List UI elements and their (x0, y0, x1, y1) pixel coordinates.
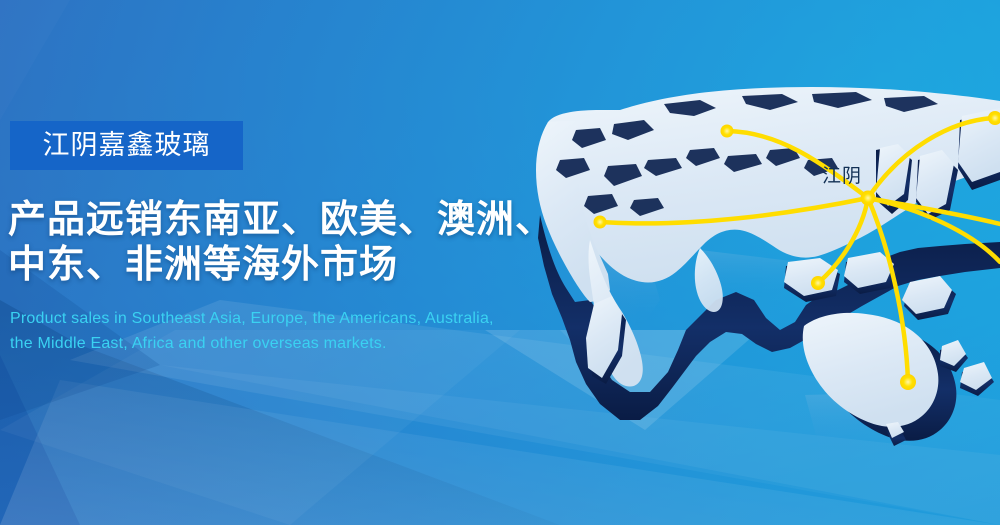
hub-label-jiangyin: 江阴 (822, 167, 862, 186)
banner-headline: 产品远销东南亚、欧美、澳洲、 中东、非洲等海外市场 (8, 198, 568, 288)
company-name-label: 江阴嘉鑫玻璃 (43, 132, 211, 159)
promotional-banner: 江阴 江阴嘉鑫玻璃 产品远销东南亚、欧美、澳洲、 中东、非洲等海外市场 Prod… (0, 0, 1000, 525)
banner-copy-block: 江阴嘉鑫玻璃 产品远销东南亚、欧美、澳洲、 中东、非洲等海外市场 Product… (0, 0, 580, 525)
company-name-badge: 江阴嘉鑫玻璃 (10, 121, 243, 170)
banner-subheadline: Product sales in Southeast Asia, Europe,… (10, 306, 570, 356)
